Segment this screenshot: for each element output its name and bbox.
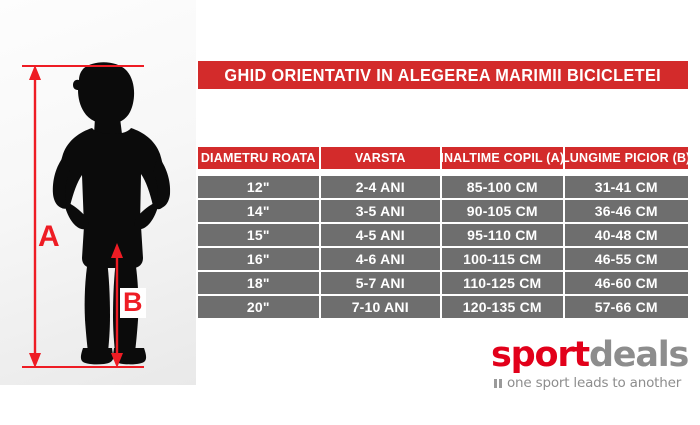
cell-wheel: 18" (198, 272, 319, 294)
cell-height: 120-135 CM (442, 296, 563, 318)
table-row: 16" 4-6 ANI 100-115 CM 46-55 CM (198, 248, 688, 270)
cell-age: 4-6 ANI (321, 248, 441, 270)
table-row: 20" 7-10 ANI 120-135 CM 57-66 CM (198, 296, 688, 318)
table-row: 18" 5-7 ANI 110-125 CM 46-60 CM (198, 272, 688, 294)
table-row: 12" 2-4 ANI 85-100 CM 31-41 CM (198, 176, 688, 198)
column-header-child-height: INALTIME COPIL (A) (442, 147, 563, 169)
column-header-leg-length: LUNGIME PICIOR (B) (565, 147, 688, 169)
column-header-wheel-diameter: DIAMETRU ROATA (198, 147, 319, 169)
measurement-label-a: A (38, 222, 60, 252)
size-guide-table: DIAMETRU ROATA VARSTA INALTIME COPIL (A)… (198, 147, 688, 320)
cell-leg: 36-46 CM (565, 200, 688, 222)
cell-age: 2-4 ANI (321, 176, 441, 198)
cell-leg: 46-60 CM (565, 272, 688, 294)
measurement-label-b: B (120, 288, 146, 318)
child-silhouette-image (40, 62, 175, 365)
cell-leg: 46-55 CM (565, 248, 688, 270)
page-title-bar: GHID ORIENTATIV IN ALEGEREA MARIMII BICI… (198, 61, 688, 89)
table-header-row: DIAMETRU ROATA VARSTA INALTIME COPIL (A)… (198, 147, 688, 169)
table-row: 14" 3-5 ANI 90-105 CM 36-46 CM (198, 200, 688, 222)
brand-logo[interactable]: sportdeals one sport leads to another (491, 338, 688, 386)
cell-wheel: 15" (198, 224, 319, 246)
cell-leg: 57-66 CM (565, 296, 688, 318)
content-area: GHID ORIENTATIV IN ALEGEREA MARIMII BICI… (198, 0, 700, 425)
logo-tagline: one sport leads to another (507, 375, 681, 391)
logo-word-deals: deals (589, 335, 688, 375)
tagline-bullet-icon (494, 379, 502, 388)
cell-height: 90-105 CM (442, 200, 563, 222)
cell-age: 4-5 ANI (321, 224, 441, 246)
logo-wordmark: sportdeals (491, 338, 688, 373)
cell-height: 110-125 CM (442, 272, 563, 294)
cell-wheel: 14" (198, 200, 319, 222)
logo-word-sport: sport (491, 335, 589, 375)
cell-leg: 31-41 CM (565, 176, 688, 198)
cell-height: 85-100 CM (442, 176, 563, 198)
cell-leg: 40-48 CM (565, 224, 688, 246)
cell-wheel: 20" (198, 296, 319, 318)
page-title: GHID ORIENTATIV IN ALEGEREA MARIMII BICI… (225, 65, 662, 86)
size-guide-infographic: A B GHID ORIENTATIV IN ALEGEREA MARIMII … (0, 0, 700, 425)
cell-height: 100-115 CM (442, 248, 563, 270)
cell-age: 7-10 ANI (321, 296, 441, 318)
cell-height: 95-110 CM (442, 224, 563, 246)
table-row: 15" 4-5 ANI 95-110 CM 40-48 CM (198, 224, 688, 246)
cell-age: 5-7 ANI (321, 272, 441, 294)
cell-wheel: 12" (198, 176, 319, 198)
measurement-arrow-a-icon (28, 65, 42, 368)
logo-tagline-row: one sport leads to another (494, 375, 688, 391)
cell-age: 3-5 ANI (321, 200, 441, 222)
column-header-age: VARSTA (321, 147, 441, 169)
cell-wheel: 16" (198, 248, 319, 270)
